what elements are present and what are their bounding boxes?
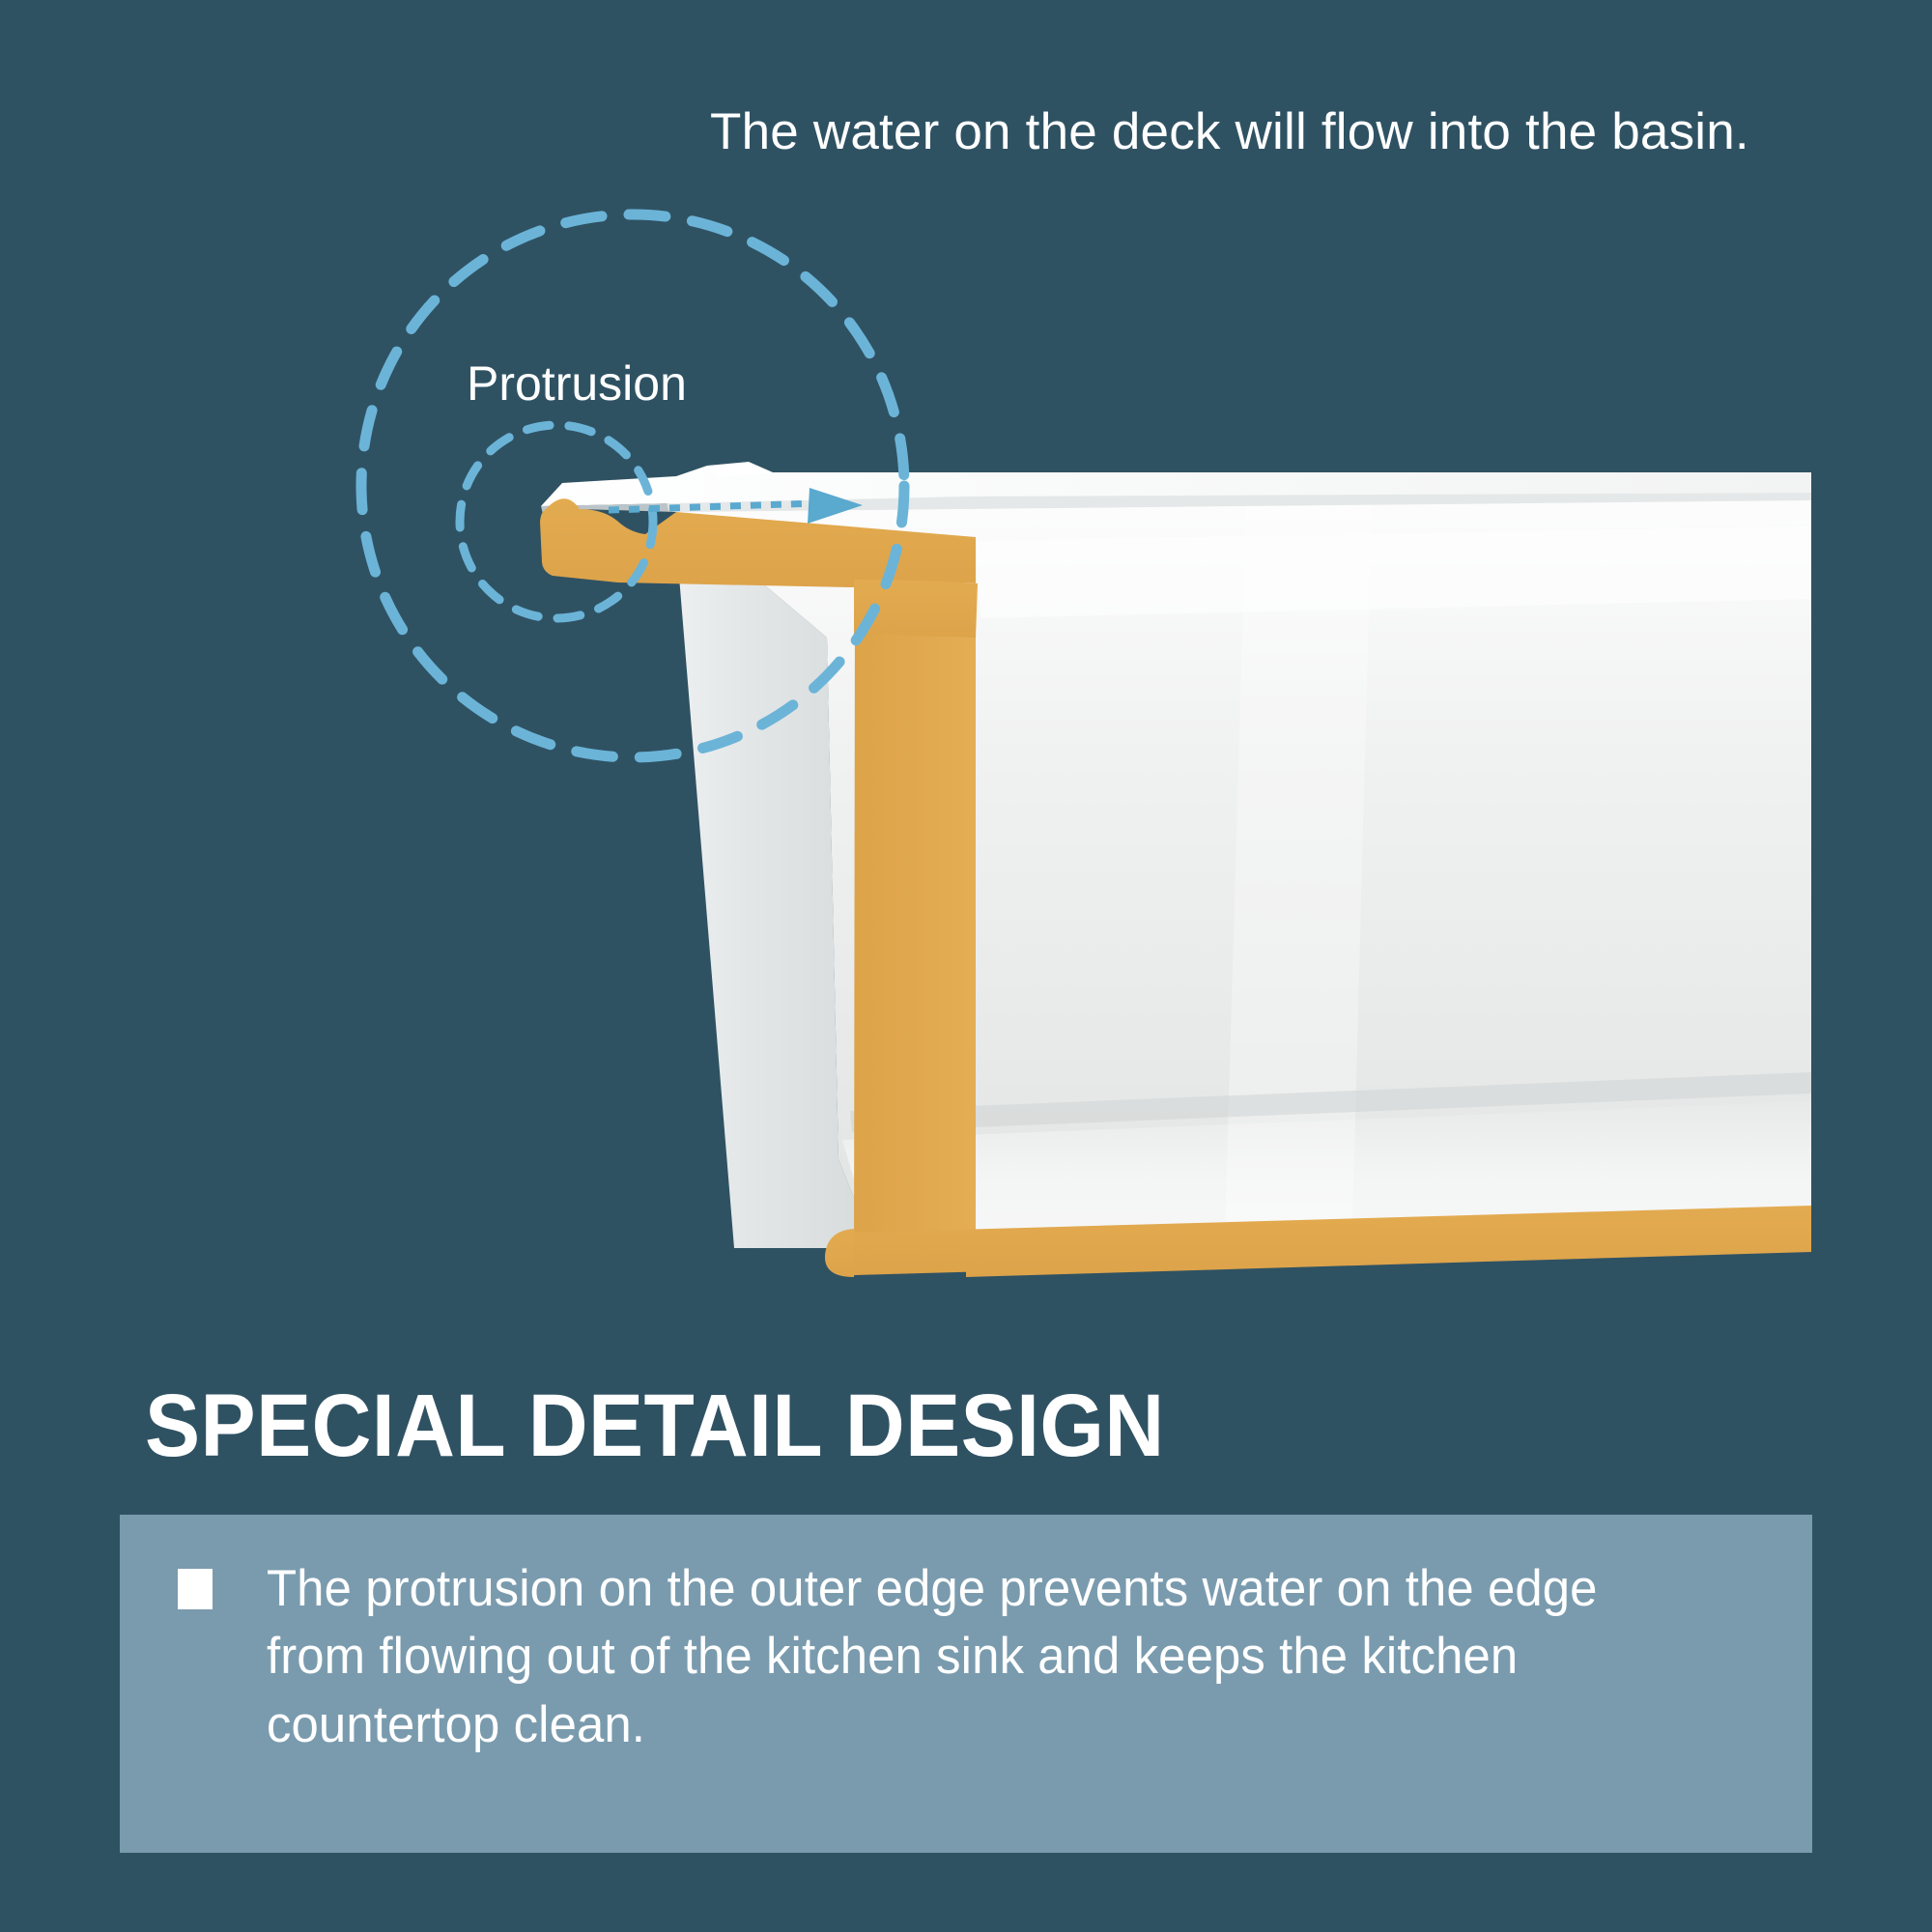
gold-edge-band: [540, 498, 1811, 1277]
protrusion-label: Protrusion: [467, 359, 687, 408]
basin-body: [667, 491, 1811, 1248]
square-bullet-icon: [178, 1569, 213, 1609]
top-caption: The water on the deck will flow into the…: [710, 104, 1898, 160]
infographic-canvas: The water on the deck will flow into the…: [0, 0, 1932, 1932]
page-title: SPECIAL DETAIL DESIGN: [145, 1381, 1165, 1470]
deck-top-surface: [541, 462, 1811, 514]
water-flow-arrow: [609, 488, 863, 524]
description-row: The protrusion on the outer edge prevent…: [178, 1555, 1754, 1759]
description-panel: The protrusion on the outer edge prevent…: [120, 1515, 1812, 1853]
inner-callout-circle: [460, 425, 653, 618]
outer-callout-circle: [361, 214, 904, 757]
description-text: The protrusion on the outer edge prevent…: [267, 1555, 1694, 1759]
